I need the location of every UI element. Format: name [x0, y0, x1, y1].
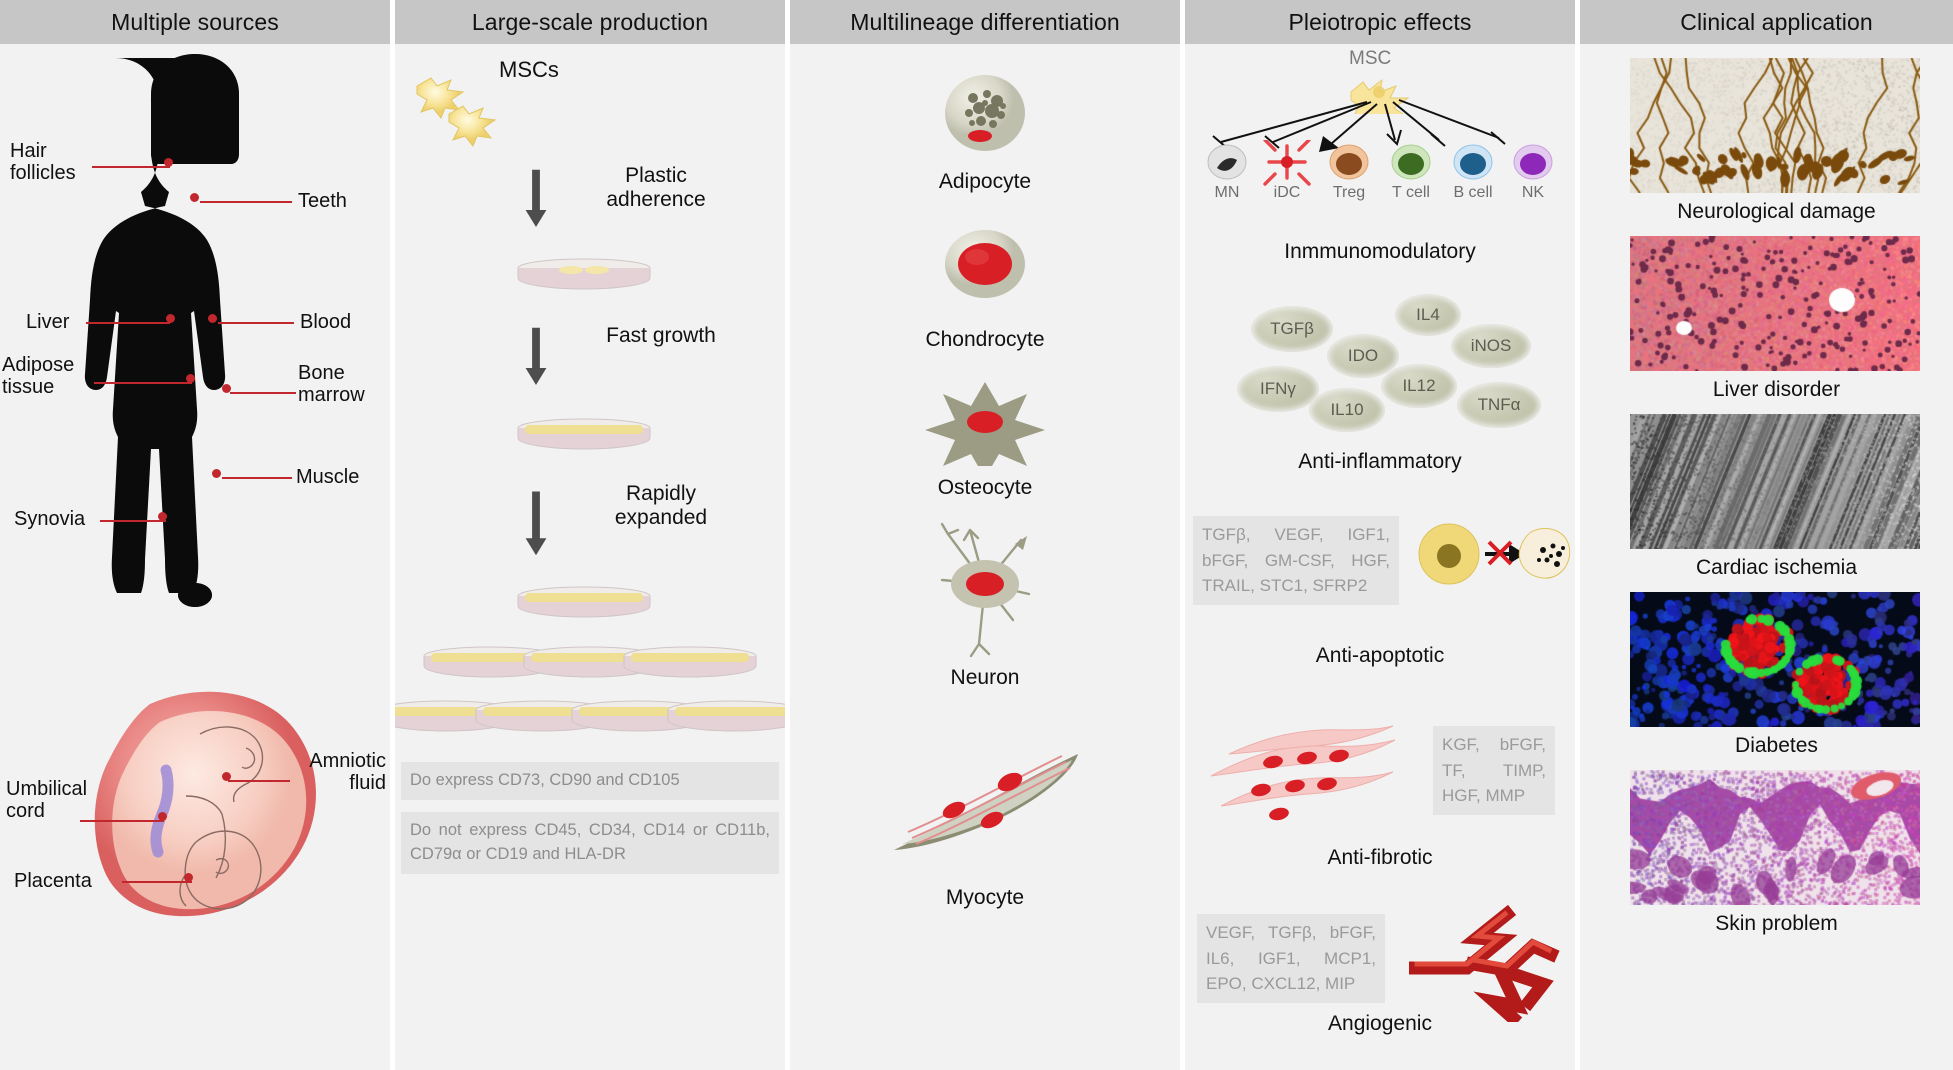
column-clinical-application: Clinical application Neurological damage…: [1580, 0, 1953, 1070]
anchor-dot: [158, 812, 167, 821]
culture-dish-icon: [509, 584, 659, 626]
effect-title-anti-apoptotic: Anti-apoptotic: [1185, 644, 1575, 668]
culture-dish-icon: [615, 644, 765, 686]
leader-line: [228, 780, 290, 782]
anchor-dot: [164, 158, 173, 167]
fetus-diagram: Amniotic fluid Umbilical cord Placenta: [0, 664, 390, 1070]
arrow-down-icon: [523, 312, 549, 402]
micrograph-caption-cardiac-ischemia: Cardiac ischemia: [1580, 556, 1953, 580]
leader-line: [122, 881, 192, 883]
arrow-down-icon: [523, 474, 549, 574]
column-body-multilineage-differentiation: Adipocyte Chondrocyte Osteocyte: [790, 44, 1180, 1070]
fibroblast-icon: [1203, 710, 1403, 830]
column-body-clinical-application: Neurological damage Liver disorder Cardi…: [1580, 44, 1953, 1070]
source-label-umbilical-cord: Umbilical cord: [6, 778, 87, 823]
msc-label: MSC: [1349, 48, 1391, 69]
column-pleiotropic-effects: Pleiotropic effects MSC: [1185, 0, 1575, 1070]
source-label-synovia: Synovia: [14, 508, 85, 530]
arrow-down-icon: [523, 154, 549, 244]
cytokine-bubble: IFNγ: [1237, 366, 1319, 412]
anchor-dot: [186, 374, 195, 383]
chondrocyte-icon: [935, 224, 1035, 304]
cytokine-bubble: IL10: [1309, 388, 1385, 432]
source-label-bone-marrow: Bone marrow: [298, 362, 365, 407]
column-body-pleiotropic-effects: MSC: [1185, 44, 1575, 1070]
cytokine-bubble: TNFα: [1457, 382, 1541, 428]
apoptosis-block-icon: [1413, 514, 1573, 594]
anchor-dot: [184, 873, 193, 882]
antiapoptotic-factor-list: TGFβ, VEGF, IGF1, bFGF, GM-CSF, HGF, TRA…: [1193, 516, 1399, 605]
cytokine-bubble-group: TGFβ IL4 IDO iNOS IFNγ IL12 IL10 TNFα: [1225, 290, 1555, 440]
msc-cells-icon: [405, 66, 515, 156]
marker-note-positive: Do express CD73, CD90 and CD105: [401, 762, 779, 800]
source-label-hair-follicles: Hair follicles: [10, 140, 76, 185]
immune-cell-label-mn: MN: [1197, 184, 1257, 202]
immune-cell-icons: [1199, 140, 1561, 186]
step-label-plastic-adherence: Plastic adherence: [581, 164, 731, 211]
micrograph-skin-problem: [1630, 770, 1920, 905]
anchor-dot: [222, 384, 231, 393]
adipocyte-icon: [935, 68, 1035, 158]
cell-label-chondrocyte: Chondrocyte: [790, 328, 1180, 352]
myocyte-icon: [882, 744, 1092, 864]
neuron-icon: [918, 510, 1052, 670]
micrograph-diabetes: [1630, 592, 1920, 727]
source-label-placenta: Placenta: [14, 870, 92, 892]
source-label-teeth: Teeth: [298, 190, 347, 212]
column-body-multiple-sources: Hair follicles Teeth Liver Blood Adipose…: [0, 44, 390, 1070]
anchor-dot: [166, 314, 175, 323]
figure-root: Multiple sources Hair follicles: [0, 0, 1953, 1070]
leader-line: [94, 382, 192, 384]
anchor-dot: [208, 314, 217, 323]
micrograph-cardiac-ischemia: [1630, 414, 1920, 549]
antifibrotic-factor-list: KGF, bFGF, TF, TIMP, HGF, MMP: [1433, 726, 1555, 815]
culture-dish-icon: [509, 416, 659, 458]
effect-title-angiogenic: Angiogenic: [1185, 1012, 1575, 1036]
cell-label-osteocyte: Osteocyte: [790, 476, 1180, 500]
effect-title-anti-inflammatory: Anti-inflammatory: [1185, 450, 1575, 474]
marker-note-negative: Do not express CD45, CD34, CD14 or CD11b…: [401, 812, 779, 874]
column-body-large-scale-production: MSCs Plastic adherence: [395, 44, 785, 1070]
leader-line: [86, 322, 170, 324]
cell-label-myocyte: Myocyte: [790, 886, 1180, 910]
leader-line: [92, 166, 170, 168]
effect-title-immunomodulatory: Inmmunomodulatory: [1185, 240, 1575, 264]
cytokine-bubble: IL4: [1395, 294, 1461, 336]
effect-title-anti-fibrotic: Anti-fibrotic: [1185, 846, 1575, 870]
anchor-dot: [190, 193, 199, 202]
cytokine-bubble: TGFβ: [1251, 306, 1333, 352]
source-label-blood: Blood: [300, 311, 351, 333]
column-multiple-sources: Multiple sources Hair follicles: [0, 0, 390, 1070]
column-header-clinical-application: Clinical application: [1580, 0, 1953, 44]
source-label-amniotic-fluid: Amniotic fluid: [290, 750, 386, 795]
osteocyte-icon: [920, 376, 1050, 466]
column-header-multilineage-differentiation: Multilineage differentiation: [790, 0, 1180, 44]
leader-line: [200, 201, 292, 203]
column-multilineage-differentiation: Multilineage differentiation Adipocyte: [790, 0, 1180, 1070]
uterus-fetus-icon: [0, 664, 390, 984]
micrograph-caption-skin-problem: Skin problem: [1580, 912, 1953, 936]
immune-cell-label-idc: iDC: [1257, 184, 1317, 202]
culture-dish-icon: [659, 698, 785, 740]
anchor-dot: [212, 469, 221, 478]
leader-line: [230, 392, 296, 394]
cytokine-bubble: iNOS: [1451, 324, 1531, 368]
column-header-large-scale-production: Large-scale production: [395, 0, 785, 44]
micrograph-liver-disorder: [1630, 236, 1920, 371]
msc-immunomodulation-diagram: MSC: [1199, 48, 1561, 208]
leader-line: [222, 477, 292, 479]
column-header-multiple-sources: Multiple sources: [0, 0, 390, 44]
source-label-muscle: Muscle: [296, 466, 359, 488]
anchor-dot: [222, 772, 231, 781]
immune-cell-label-treg: Treg: [1319, 184, 1379, 202]
leader-line: [218, 322, 294, 324]
micrograph-caption-diabetes: Diabetes: [1580, 734, 1953, 758]
female-silhouette-icon: [60, 50, 330, 660]
immune-cell-label-nk: NK: [1503, 184, 1563, 202]
step-label-rapidly-expanded: Rapidly expanded: [581, 482, 741, 529]
micrograph-caption-neurological-damage: Neurological damage: [1580, 200, 1953, 224]
immune-cell-label-t-cell: T cell: [1381, 184, 1441, 202]
step-label-fast-growth: Fast growth: [581, 324, 741, 348]
source-label-liver: Liver: [26, 311, 69, 333]
column-header-pleiotropic-effects: Pleiotropic effects: [1185, 0, 1575, 44]
blood-vessel-icon: [1409, 902, 1569, 1022]
source-label-adipose-tissue: Adipose tissue: [2, 354, 74, 399]
cytokine-bubble: IL12: [1381, 364, 1457, 408]
micrograph-neurological-damage: [1630, 58, 1920, 193]
leader-line: [80, 820, 164, 822]
micrograph-caption-liver-disorder: Liver disorder: [1580, 378, 1953, 402]
human-body-diagram: Hair follicles Teeth Liver Blood Adipose…: [0, 44, 390, 664]
immune-cell-label-b-cell: B cell: [1443, 184, 1503, 202]
angiogenic-factor-list: VEGF, TGFβ, bFGF, IL6, IGF1, MCP1, EPO, …: [1197, 914, 1385, 1003]
column-large-scale-production: Large-scale production MSCs: [395, 0, 785, 1070]
leader-line: [100, 520, 166, 522]
cell-label-neuron: Neuron: [790, 666, 1180, 690]
cell-label-adipocyte: Adipocyte: [790, 170, 1180, 194]
culture-dish-icon: [509, 256, 659, 298]
anchor-dot: [158, 512, 167, 521]
